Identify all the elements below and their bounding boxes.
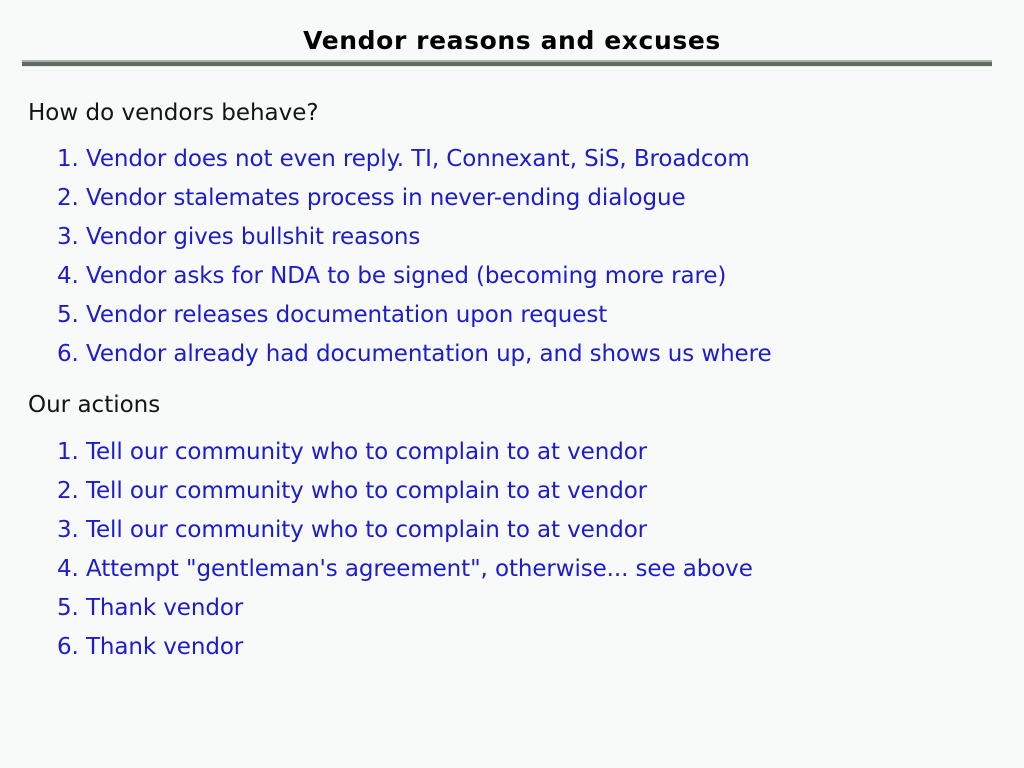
vendor-behavior-list: 1. Vendor does not even reply. TI, Conne… [0,140,1024,374]
list-item: 4. Attempt "gentleman's agreement", othe… [0,550,1024,589]
list-item-text: Vendor asks for NDA to be signed (becomi… [86,263,726,289]
list-item-text: Vendor stalemates process in never-endin… [86,185,686,211]
list-item: 2. Tell our community who to complain to… [0,472,1024,511]
section-how-do-vendors-behave: How do vendors behave? 1. Vendor does no… [0,94,1024,374]
title-divider-shadow [22,70,992,71]
list-item-number: 6. [57,341,79,367]
list-item-text: Thank vendor [86,634,243,660]
list-item: 6. Vendor already had documentation up, … [0,335,1024,374]
list-item-number: 6. [57,634,79,660]
list-item-text: Tell our community who to complain to at… [86,478,647,504]
list-item: 5. Vendor releases documentation upon re… [0,296,1024,335]
slide-canvas: Vendor reasons and excuses How do vendor… [0,0,1024,768]
title-divider-rule [22,60,992,67]
section-heading: Our actions [0,386,1024,424]
list-item-text: Thank vendor [86,595,243,621]
list-item-text: Vendor already had documentation up, and… [86,341,772,367]
list-item-number: 4. [57,556,79,582]
list-item: 2. Vendor stalemates process in never-en… [0,179,1024,218]
list-item-number: 2. [57,185,79,211]
list-item: 3. Tell our community who to complain to… [0,511,1024,550]
slide-body: How do vendors behave? 1. Vendor does no… [0,94,1024,667]
list-item-number: 5. [57,595,79,621]
list-item-number: 3. [57,517,79,543]
list-item-text: Tell our community who to complain to at… [86,517,647,543]
list-item-number: 3. [57,224,79,250]
section-heading: How do vendors behave? [0,94,1024,132]
list-item: 5. Thank vendor [0,589,1024,628]
list-item: 1. Vendor does not even reply. TI, Conne… [0,140,1024,179]
list-item-number: 2. [57,478,79,504]
list-item: 1. Tell our community who to complain to… [0,433,1024,472]
list-item-number: 5. [57,302,79,328]
page-title: Vendor reasons and excuses [0,26,1024,56]
list-item: 4. Vendor asks for NDA to be signed (bec… [0,257,1024,296]
list-item: 3. Vendor gives bullshit reasons [0,218,1024,257]
list-item-number: 4. [57,263,79,289]
list-item: 6. Thank vendor [0,628,1024,667]
list-item-text: Vendor does not even reply. TI, Connexan… [86,146,750,172]
section-our-actions: Our actions 1. Tell our community who to… [0,386,1024,667]
list-item-text: Tell our community who to complain to at… [86,439,647,465]
list-item-number: 1. [57,439,79,465]
our-actions-list: 1. Tell our community who to complain to… [0,433,1024,667]
list-item-text: Vendor releases documentation upon reque… [86,302,607,328]
list-item-text: Attempt "gentleman's agreement", otherwi… [86,556,753,582]
list-item-text: Vendor gives bullshit reasons [86,224,420,250]
list-item-number: 1. [57,146,79,172]
